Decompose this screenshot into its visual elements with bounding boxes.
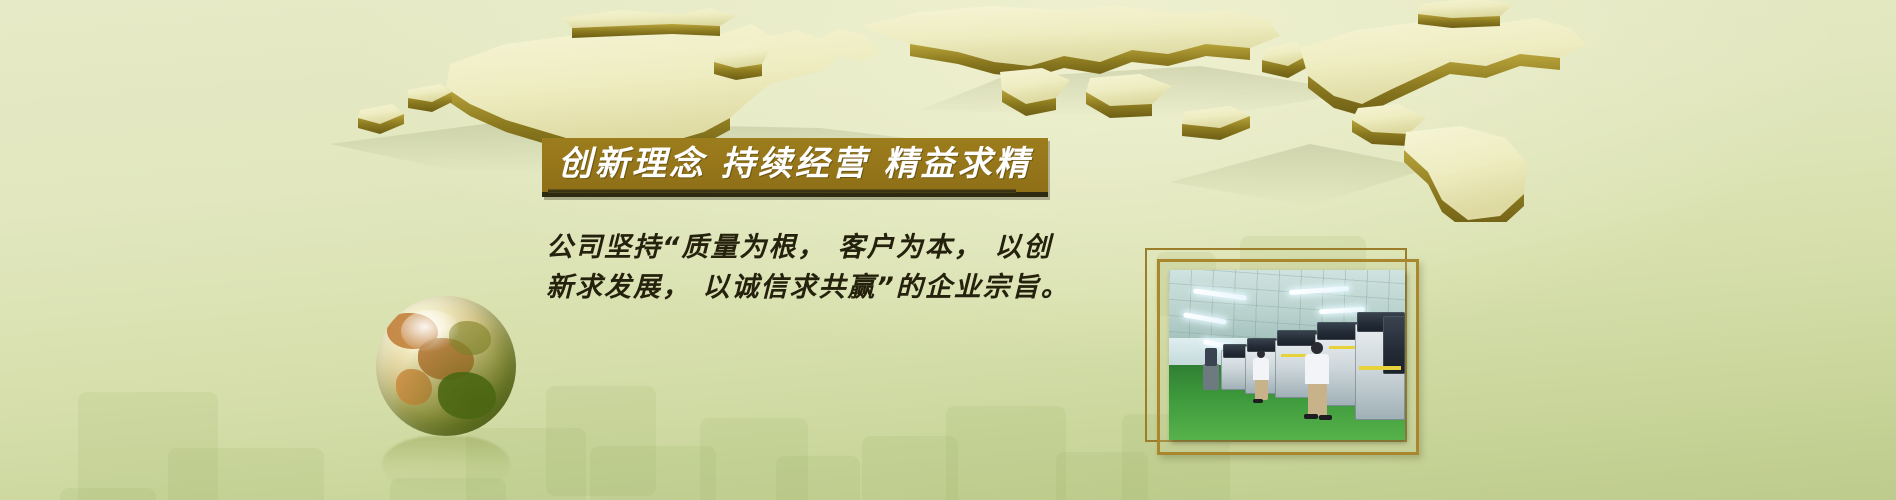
photo-worker bbox=[1257, 350, 1265, 358]
decor-square bbox=[946, 406, 1066, 500]
photo-worker bbox=[1253, 358, 1269, 380]
photo-machine bbox=[1223, 344, 1247, 358]
photo-tool-cart bbox=[1203, 364, 1219, 390]
globe-reflection bbox=[382, 436, 510, 492]
decor-square bbox=[60, 488, 156, 500]
photo-worker bbox=[1255, 380, 1268, 400]
globe-icon bbox=[376, 296, 516, 436]
globe-rim-shading bbox=[376, 296, 516, 436]
photo-machine bbox=[1277, 330, 1317, 346]
photo-worker bbox=[1308, 384, 1327, 416]
decor-square bbox=[546, 386, 656, 496]
globe-highlight bbox=[401, 310, 460, 352]
photo-worker bbox=[1253, 399, 1263, 403]
decor-square bbox=[168, 448, 324, 500]
photo-machine-trim bbox=[1359, 366, 1401, 370]
decor-square bbox=[466, 428, 586, 500]
photo-machine-trim bbox=[1329, 346, 1355, 349]
company-culture-banner: 创新理念 持续经营 精益求精 公司坚持“质量为根， 客户为本， 以创 新求发展，… bbox=[0, 0, 1896, 500]
decor-square bbox=[78, 392, 218, 500]
subtitle-line-2: 新求发展， 以诚信求共赢”的企业宗旨。 bbox=[546, 268, 1166, 308]
globe-graphic bbox=[376, 296, 528, 496]
decor-square bbox=[862, 436, 958, 500]
photo-worker bbox=[1304, 414, 1318, 419]
decor-square bbox=[590, 446, 716, 500]
decor-square bbox=[390, 478, 506, 500]
photo-tool-cart bbox=[1205, 348, 1217, 366]
photo-worker bbox=[1319, 415, 1332, 420]
decor-square bbox=[776, 456, 860, 500]
headline-underline-rule bbox=[548, 189, 1016, 193]
photo-worker bbox=[1305, 354, 1329, 384]
factory-workshop-photo bbox=[1169, 270, 1405, 440]
subtitle-block: 公司坚持“质量为根， 客户为本， 以创 新求发展， 以诚信求共赢”的企业宗旨。 bbox=[546, 228, 1166, 308]
photo-worker bbox=[1311, 342, 1323, 354]
decor-square bbox=[1056, 452, 1148, 500]
subtitle-line-1: 公司坚持“质量为根， 客户为本， 以创 bbox=[546, 228, 1166, 268]
headline-text: 创新理念 持续经营 精益求精 bbox=[558, 144, 1032, 184]
decor-square bbox=[700, 418, 808, 500]
